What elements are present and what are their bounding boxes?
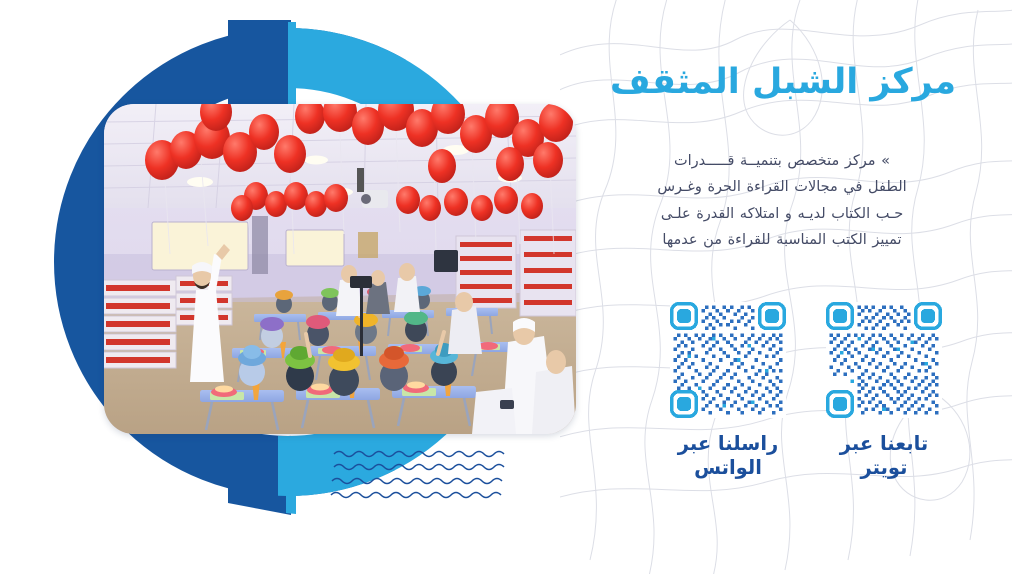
description-line: » مركز متخصص بتنميــة قـــــدرات bbox=[608, 148, 956, 174]
qr-caption-line: الواتس bbox=[660, 456, 796, 480]
description-line: حـب الكتاب لديـه و امتلاكه القدرة علـى bbox=[608, 201, 956, 227]
qr-caption-line: راسلنا عبر bbox=[660, 432, 796, 456]
qr-caption-whatsapp: راسلنا عبر الواتس bbox=[660, 432, 796, 480]
description-line: الطفل في مجالات القراءة الحرة وغـرس bbox=[608, 174, 956, 200]
qr-caption-line: تويتر bbox=[816, 456, 952, 480]
qr-block-twitter[interactable]: تابعنا عبر تويتر bbox=[816, 302, 952, 480]
qr-code-icon[interactable] bbox=[670, 302, 786, 418]
classroom-photo bbox=[104, 104, 576, 434]
wave-decoration bbox=[330, 448, 510, 504]
slide-canvas: مركز الشبل المثقف » مركز متخصص بتنميــة … bbox=[0, 0, 1012, 574]
description-line: تمييز الكتب المناسبة للقراءة من عدمها bbox=[608, 227, 956, 253]
page-title: مركز الشبل المثقف bbox=[606, 62, 956, 102]
qr-caption-line: تابعنا عبر bbox=[816, 432, 952, 456]
qr-code-icon[interactable] bbox=[826, 302, 942, 418]
qr-caption-twitter: تابعنا عبر تويتر bbox=[816, 432, 952, 480]
description-text: » مركز متخصص بتنميــة قـــــدرات الطفل ف… bbox=[608, 148, 956, 254]
content-column: مركز الشبل المثقف » مركز متخصص بتنميــة … bbox=[596, 0, 956, 574]
qr-block-whatsapp[interactable]: راسلنا عبر الواتس bbox=[660, 302, 796, 480]
qr-code-row: تابعنا عبر تويتر bbox=[600, 302, 956, 512]
